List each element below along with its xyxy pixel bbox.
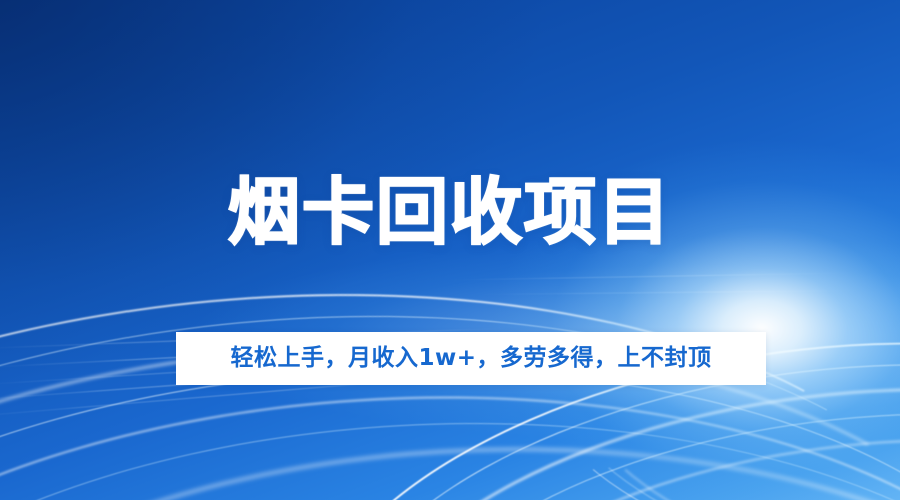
page-title: 烟卡回收项目	[0, 176, 900, 248]
subtitle-text: 轻松上手，月收入1w+，多劳多得，上不封顶	[230, 347, 711, 370]
promo-banner: 烟卡回收项目 轻松上手，月收入1w+，多劳多得，上不封顶	[0, 0, 900, 500]
subtitle-bar: 轻松上手，月收入1w+，多劳多得，上不封顶	[176, 332, 766, 385]
